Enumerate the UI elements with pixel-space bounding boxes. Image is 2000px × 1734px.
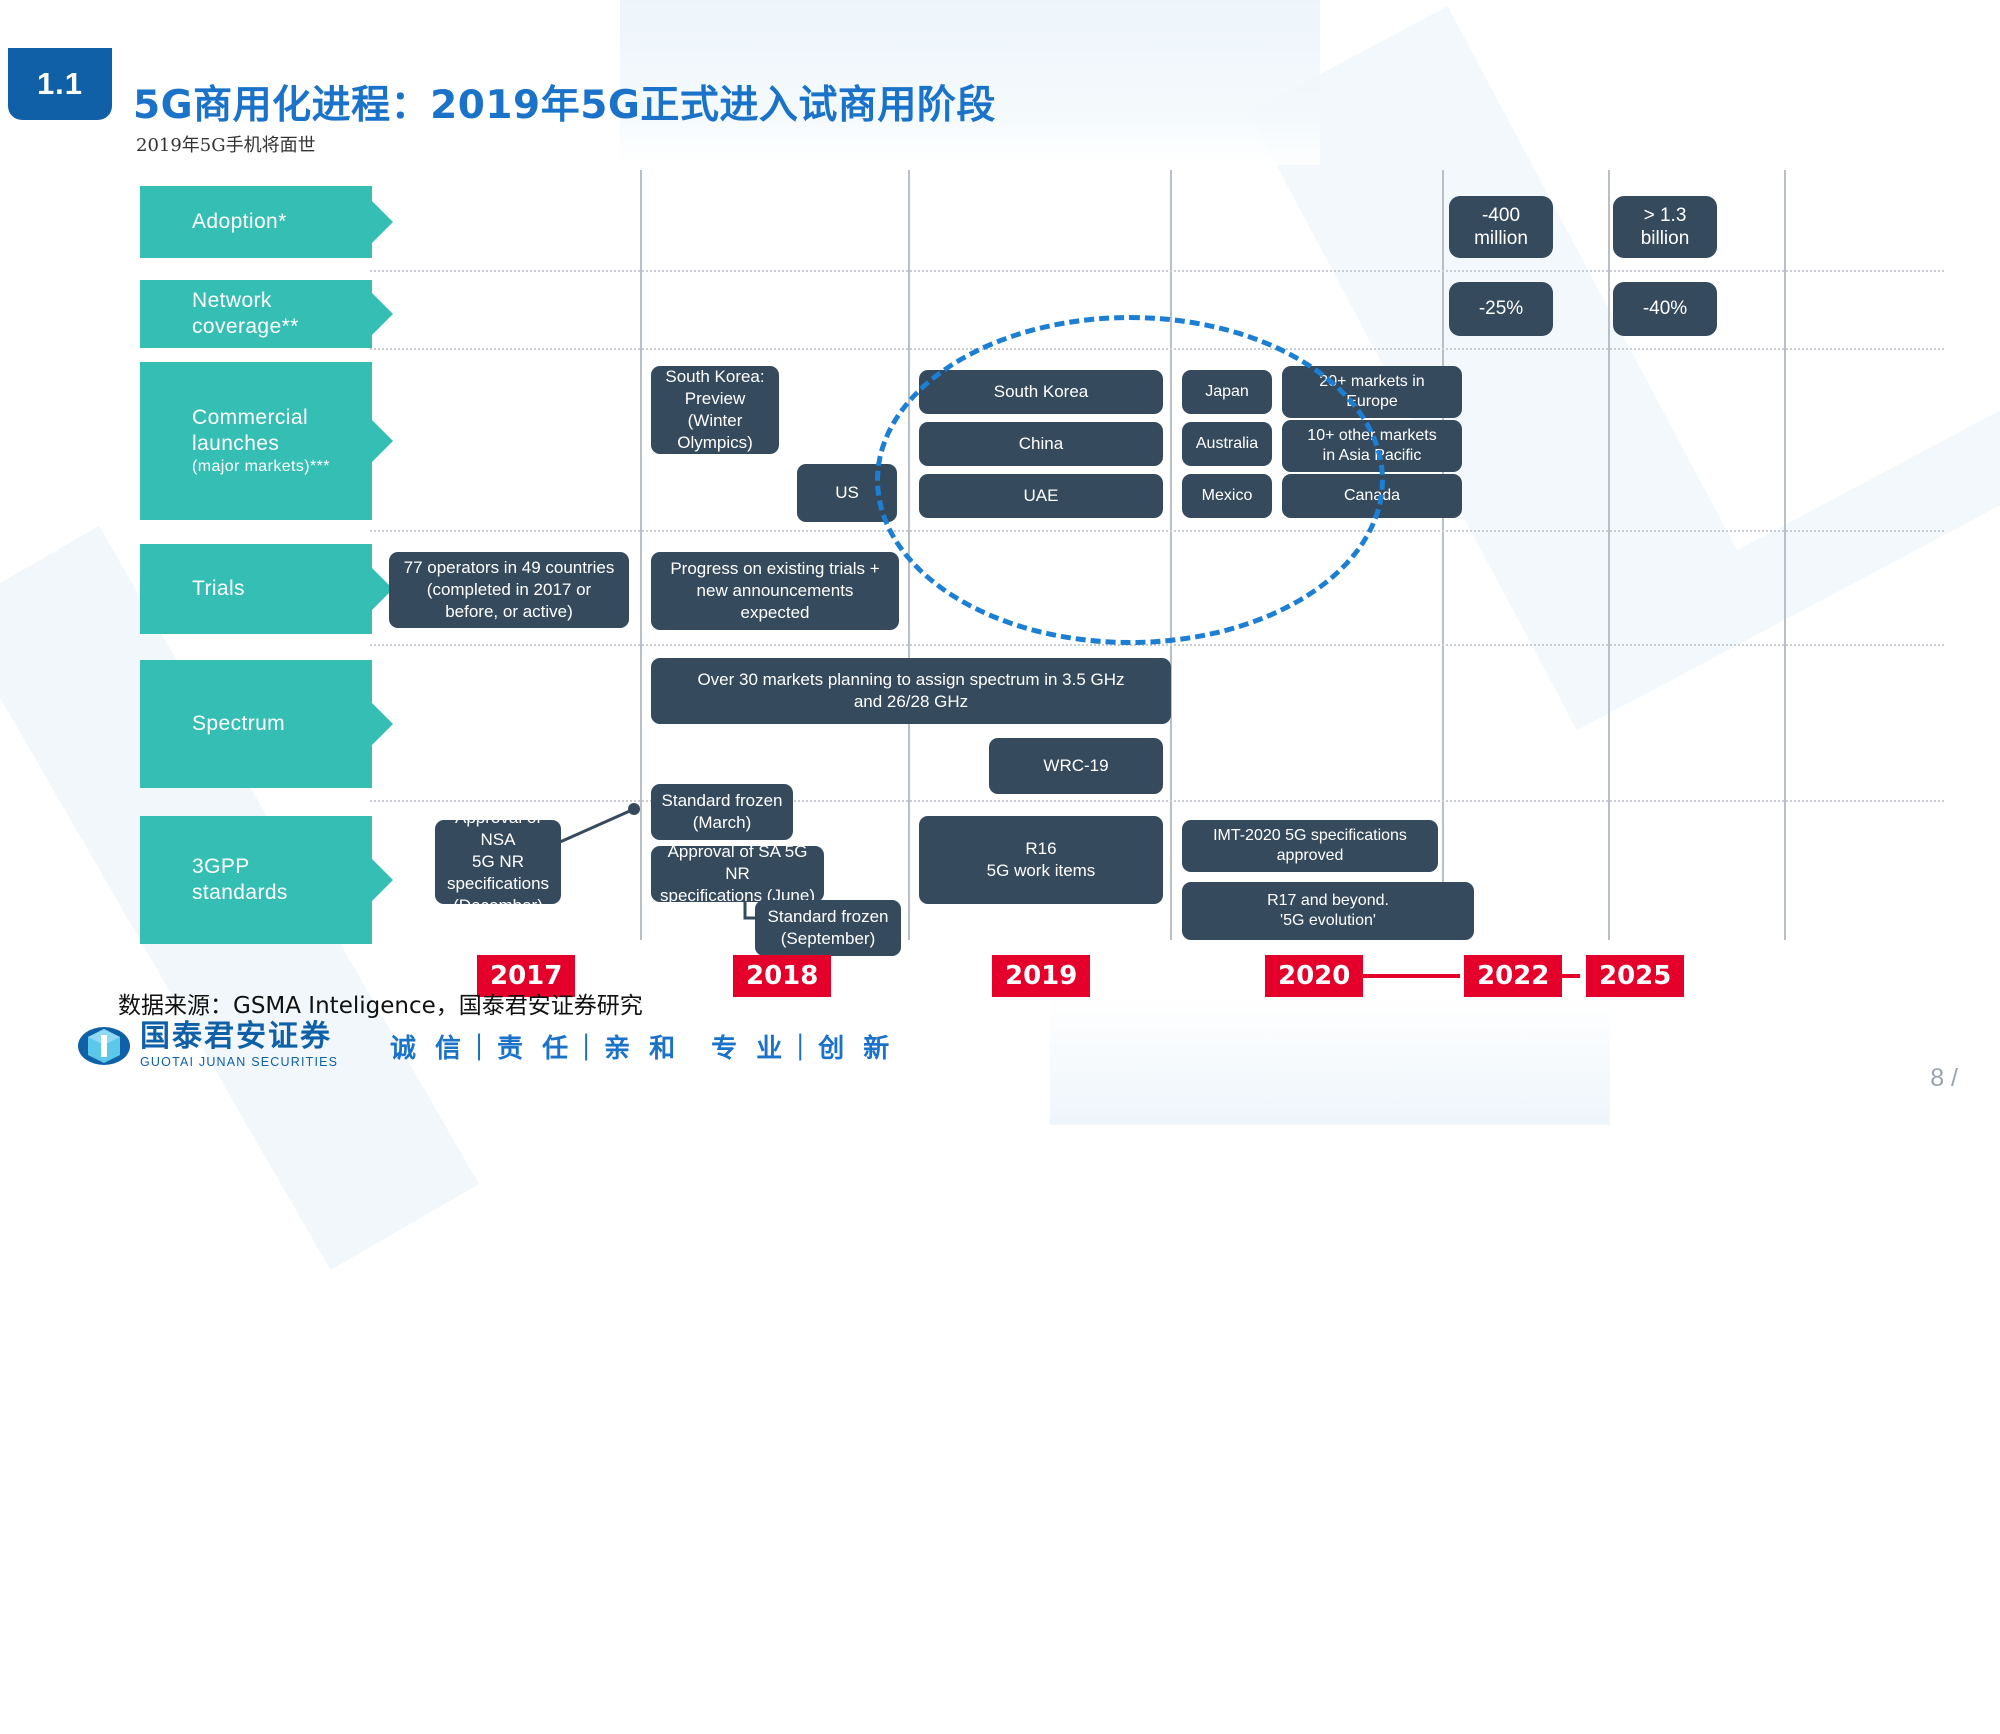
category-network-coverage: Networkcoverage** xyxy=(140,280,372,348)
category-label: Commercial launches (major markets)*** xyxy=(192,405,372,477)
kpi-coverage-2022: -25% xyxy=(1449,282,1553,336)
category-commercial-launches: Commercial launches (major markets)*** xyxy=(140,362,372,520)
standards-r17: R17 and beyond.'5G evolution' xyxy=(1182,882,1474,940)
page-title: 5G商用化进程：2019年5G正式进入试商用阶段 xyxy=(133,74,996,130)
kpi-unit: billion xyxy=(1641,227,1690,250)
chip-arrow-icon xyxy=(372,703,393,745)
rowdivider-1 xyxy=(370,270,1944,272)
standards-nsa-approval: Approval of NSA5G NRspecifications(Decem… xyxy=(435,820,561,904)
company-slogan: 诚 信｜责 任｜亲 和 专 业｜创 新 xyxy=(390,1028,894,1065)
kpi-value: > 1.3 xyxy=(1644,204,1687,227)
spectrum-wrc19: WRC-19 xyxy=(989,738,1163,794)
category-trials: Trials xyxy=(140,544,372,634)
category-label: Networkcoverage** xyxy=(192,288,299,340)
year-label-2018: 2018 xyxy=(733,955,831,997)
year-label-2022: 2022 xyxy=(1464,955,1562,997)
chip-arrow-icon xyxy=(372,293,393,335)
highlight-ellipse xyxy=(875,315,1385,645)
trials-2018: Progress on existing trials +new announc… xyxy=(651,552,899,630)
category-label: Spectrum xyxy=(192,711,285,737)
brand-name-en: GUOTAI JUNAN SECURITIES xyxy=(140,1055,338,1069)
launch-korea-preview: South Korea:Preview (WinterOlympics) xyxy=(651,366,779,454)
brand-name-cn: 国泰君安证券 xyxy=(140,1022,338,1052)
standards-frozen-september: Standard frozen(September) xyxy=(755,900,901,956)
category-label: Adoption* xyxy=(192,209,287,235)
standards-frozen-march: Standard frozen(March) xyxy=(651,784,793,840)
gridline-vertical-2025 xyxy=(1608,170,1610,940)
company-logo-icon xyxy=(78,1025,130,1067)
rowdivider-4 xyxy=(370,644,1944,646)
page-subtitle: 2019年5G手机将面世 xyxy=(136,131,316,157)
chip-arrow-icon xyxy=(372,420,393,462)
year-label-2025: 2025 xyxy=(1586,955,1684,997)
spectrum-main: Over 30 markets planning to assign spect… xyxy=(651,658,1171,724)
chapter-badge: 1.1 xyxy=(8,48,112,120)
kpi-value: -400 xyxy=(1482,204,1520,227)
standards-r16: R165G work items xyxy=(919,816,1163,904)
category-sublabel: (major markets)*** xyxy=(192,457,372,477)
standards-imt2020: IMT-2020 5G specificationsapproved xyxy=(1182,820,1438,872)
category-spectrum: Spectrum xyxy=(140,660,372,788)
gridline-vertical-2022 xyxy=(1442,170,1444,940)
category-3gpp-standards: 3GPPstandards xyxy=(140,816,372,944)
kpi-coverage-2025: -40% xyxy=(1613,282,1717,336)
rowdivider-5 xyxy=(370,800,1944,802)
gridline-vertical-right xyxy=(1784,170,1786,940)
footer-logo: 国泰君安证券 GUOTAI JUNAN SECURITIES xyxy=(78,1022,338,1069)
year-label-2019: 2019 xyxy=(992,955,1090,997)
category-label: Trials xyxy=(192,576,245,602)
category-label: 3GPPstandards xyxy=(192,854,288,906)
year-connector-2022-2025 xyxy=(1552,974,1580,978)
chip-arrow-icon xyxy=(372,201,393,243)
standards-sa-approval: Approval of SA 5G NRspecifications (June… xyxy=(651,846,824,902)
year-label-2020: 2020 xyxy=(1265,955,1363,997)
kpi-adoption-2022: -400 million xyxy=(1449,196,1553,258)
source-note: 数据来源：GSMA Inteligence，国泰君安证券研究 xyxy=(118,986,643,1020)
trials-2017: 77 operators in 49 countries(completed i… xyxy=(389,552,629,628)
kpi-unit: million xyxy=(1474,227,1528,250)
kpi-adoption-2025: > 1.3 billion xyxy=(1613,196,1717,258)
page-number: 8 / xyxy=(1930,1064,1958,1093)
chip-arrow-icon xyxy=(372,859,393,901)
year-connector-2020-2022 xyxy=(1350,974,1460,978)
background-bottom-band xyxy=(1050,995,1610,1125)
category-adoption: Adoption* xyxy=(140,186,372,258)
timeline-chart: Adoption* Networkcoverage** Commercial l… xyxy=(0,170,2000,980)
gridline-vertical-2018 xyxy=(640,170,642,940)
